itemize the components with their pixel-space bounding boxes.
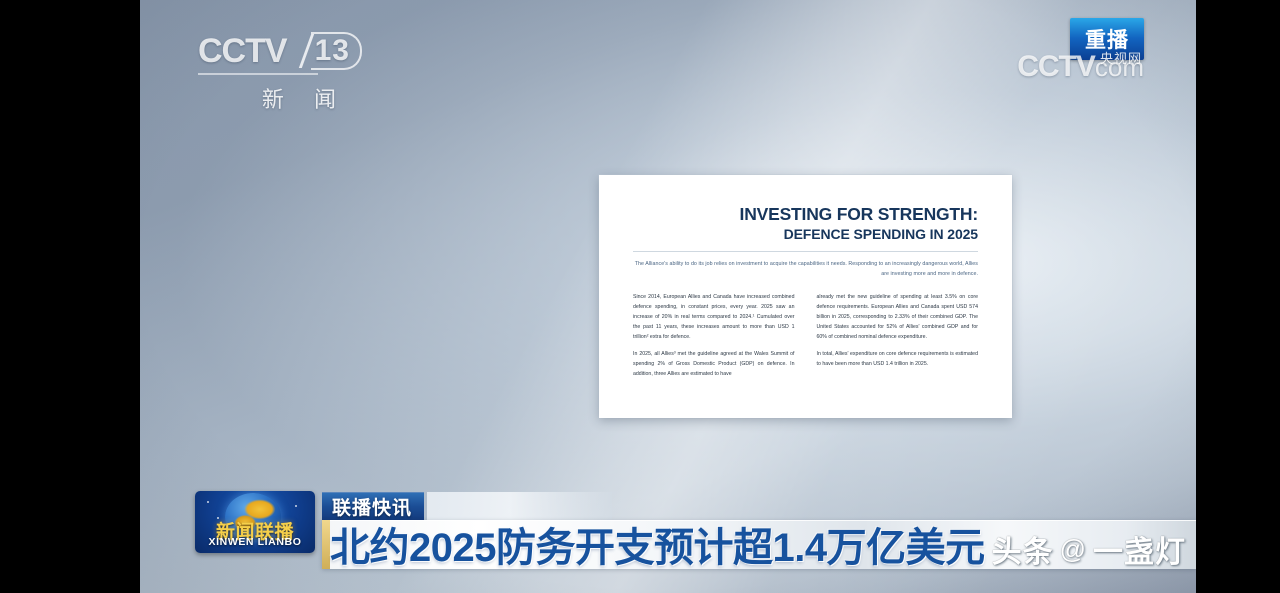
watermark-source: 头条 xyxy=(992,527,1054,571)
lower-third-banner: 新闻联播 XINWEN LIANBO 联播快讯 北约2025防务开支预计超1.4… xyxy=(140,453,1196,593)
paragraph: already met the new guideline of spendin… xyxy=(817,293,979,343)
report-left-column: Since 2014, European Allies and Canada h… xyxy=(633,293,795,387)
paragraph: In total, Allies' expenditure on core de… xyxy=(817,350,979,370)
cctv-com-prefix: CCTV xyxy=(1017,50,1095,83)
report-right-column: already met the new guideline of spendin… xyxy=(817,293,979,387)
channel-number: 13 xyxy=(311,32,362,70)
nato-report-page: INVESTING FOR STRENGTH: DEFENCE SPENDING… xyxy=(599,175,1012,418)
cctv-dot-com-logo: 央视网 CCTVcom xyxy=(1017,52,1144,82)
logo-underline-rule xyxy=(198,73,318,75)
report-title-line1: INVESTING FOR STRENGTH: xyxy=(633,205,978,224)
report-title-block: INVESTING FOR STRENGTH: DEFENCE SPENDING… xyxy=(633,205,978,242)
cctv-wordmark: CCTV xyxy=(198,34,287,68)
report-columns: Since 2014, European Allies and Canada h… xyxy=(633,293,978,387)
report-title-line2: DEFENCE SPENDING IN 2025 xyxy=(633,226,978,242)
paragraph: Since 2014, European Allies and Canada h… xyxy=(633,293,795,343)
star-icon xyxy=(207,501,209,503)
video-viewport: CCTV 13 新 闻 重播 央视网 CCTVcom INVESTING FOR… xyxy=(140,0,1196,593)
program-name-pinyin: XINWEN LIANBO xyxy=(195,536,315,548)
watermark-at-icon: @ xyxy=(1060,534,1087,565)
watermark-author: 一盏灯 xyxy=(1093,527,1186,571)
headline-bar-accent xyxy=(322,520,330,569)
channel-name-cn: 新 闻 xyxy=(198,82,362,114)
tv-broadcast-frame: CCTV 13 新 闻 重播 央视网 CCTVcom INVESTING FOR… xyxy=(0,0,1280,593)
cctv13-logo-row: CCTV 13 xyxy=(198,32,362,70)
star-icon xyxy=(295,505,297,507)
logo-slash-icon xyxy=(285,34,313,68)
headline-text: 北约2025防务开支预计超1.4万亿美元 xyxy=(330,520,985,568)
paragraph: In 2025, all Allies³ met the guideline a… xyxy=(633,350,795,380)
yangshiwang-label: 央视网 xyxy=(1100,48,1142,67)
uploader-watermark: 头条 @ 一盏灯 xyxy=(992,527,1186,571)
xinwen-lianbo-logo: 新闻联播 XINWEN LIANBO xyxy=(195,491,315,553)
report-lede: The Alliance's ability to do its job rel… xyxy=(633,259,978,279)
title-divider xyxy=(633,251,978,252)
cctv13-channel-logo: CCTV 13 新 闻 xyxy=(198,32,362,114)
